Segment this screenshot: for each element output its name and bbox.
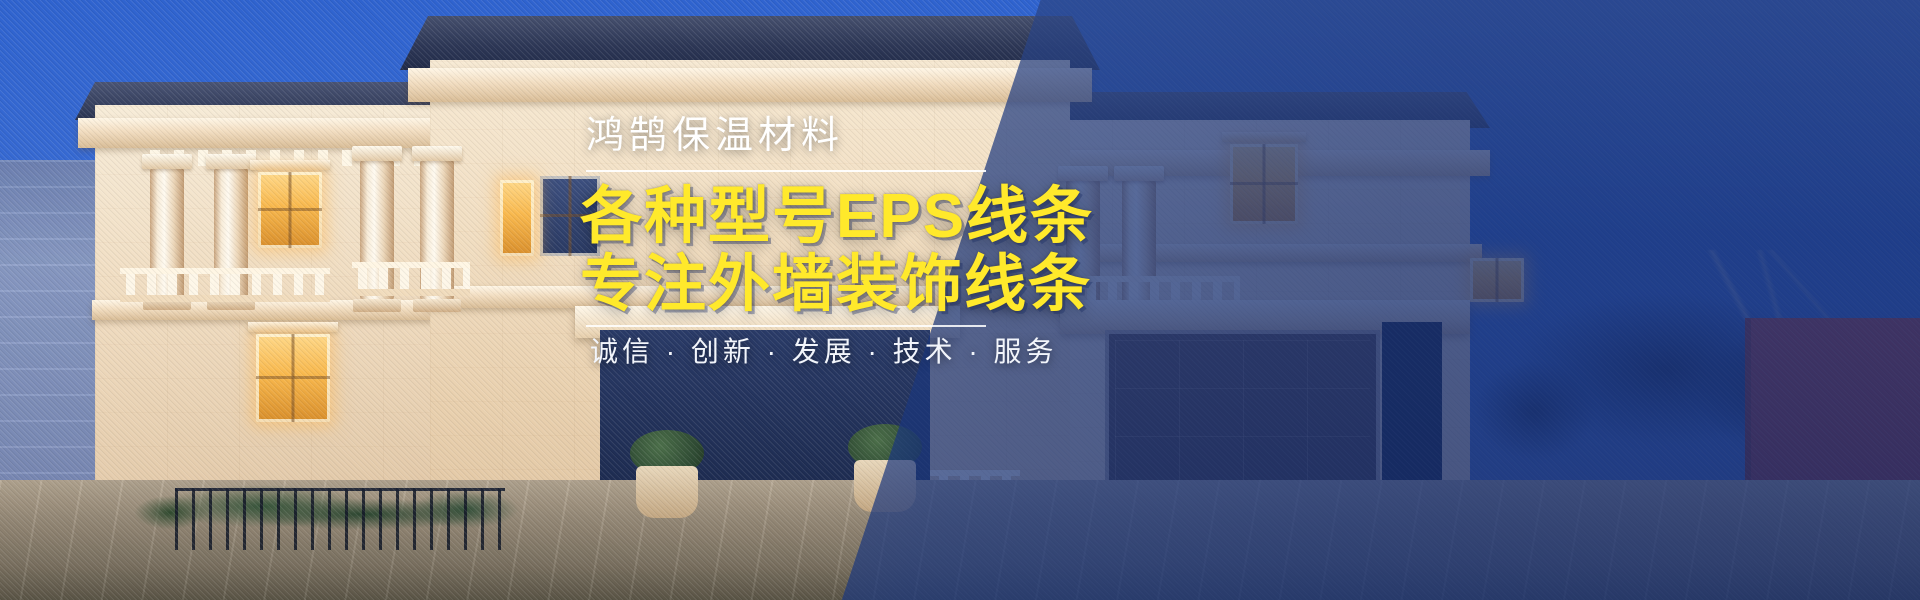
balustrade [352,262,470,296]
lit-window [258,172,322,248]
tagline: 诚信 · 创新 · 发展 · 技术 · 服务 [590,330,1058,370]
window-trim [250,160,330,170]
promo-banner: 鸿鹄保温材料 各种型号EPS线条 专注外墙装饰线条 诚信 · 创新 · 发展 ·… [0,0,1920,600]
brand-name: 鸿鹄保温材料 [586,104,844,159]
divider-top [586,170,986,172]
banner-content: 鸿鹄保温材料 各种型号EPS线条 专注外墙装饰线条 诚信 · 创新 · 发展 ·… [560,0,1560,600]
lit-window [256,334,330,422]
headline-line-2: 专注外墙装饰线条 [580,254,1092,316]
balustrade [120,268,330,302]
iron-fence [175,488,505,550]
lit-window [500,180,534,256]
window-trim [248,322,338,332]
headline-line-1: 各种型号EPS线条 [580,186,1094,248]
left-wing-cornice [78,118,474,148]
divider-bottom [586,325,986,327]
